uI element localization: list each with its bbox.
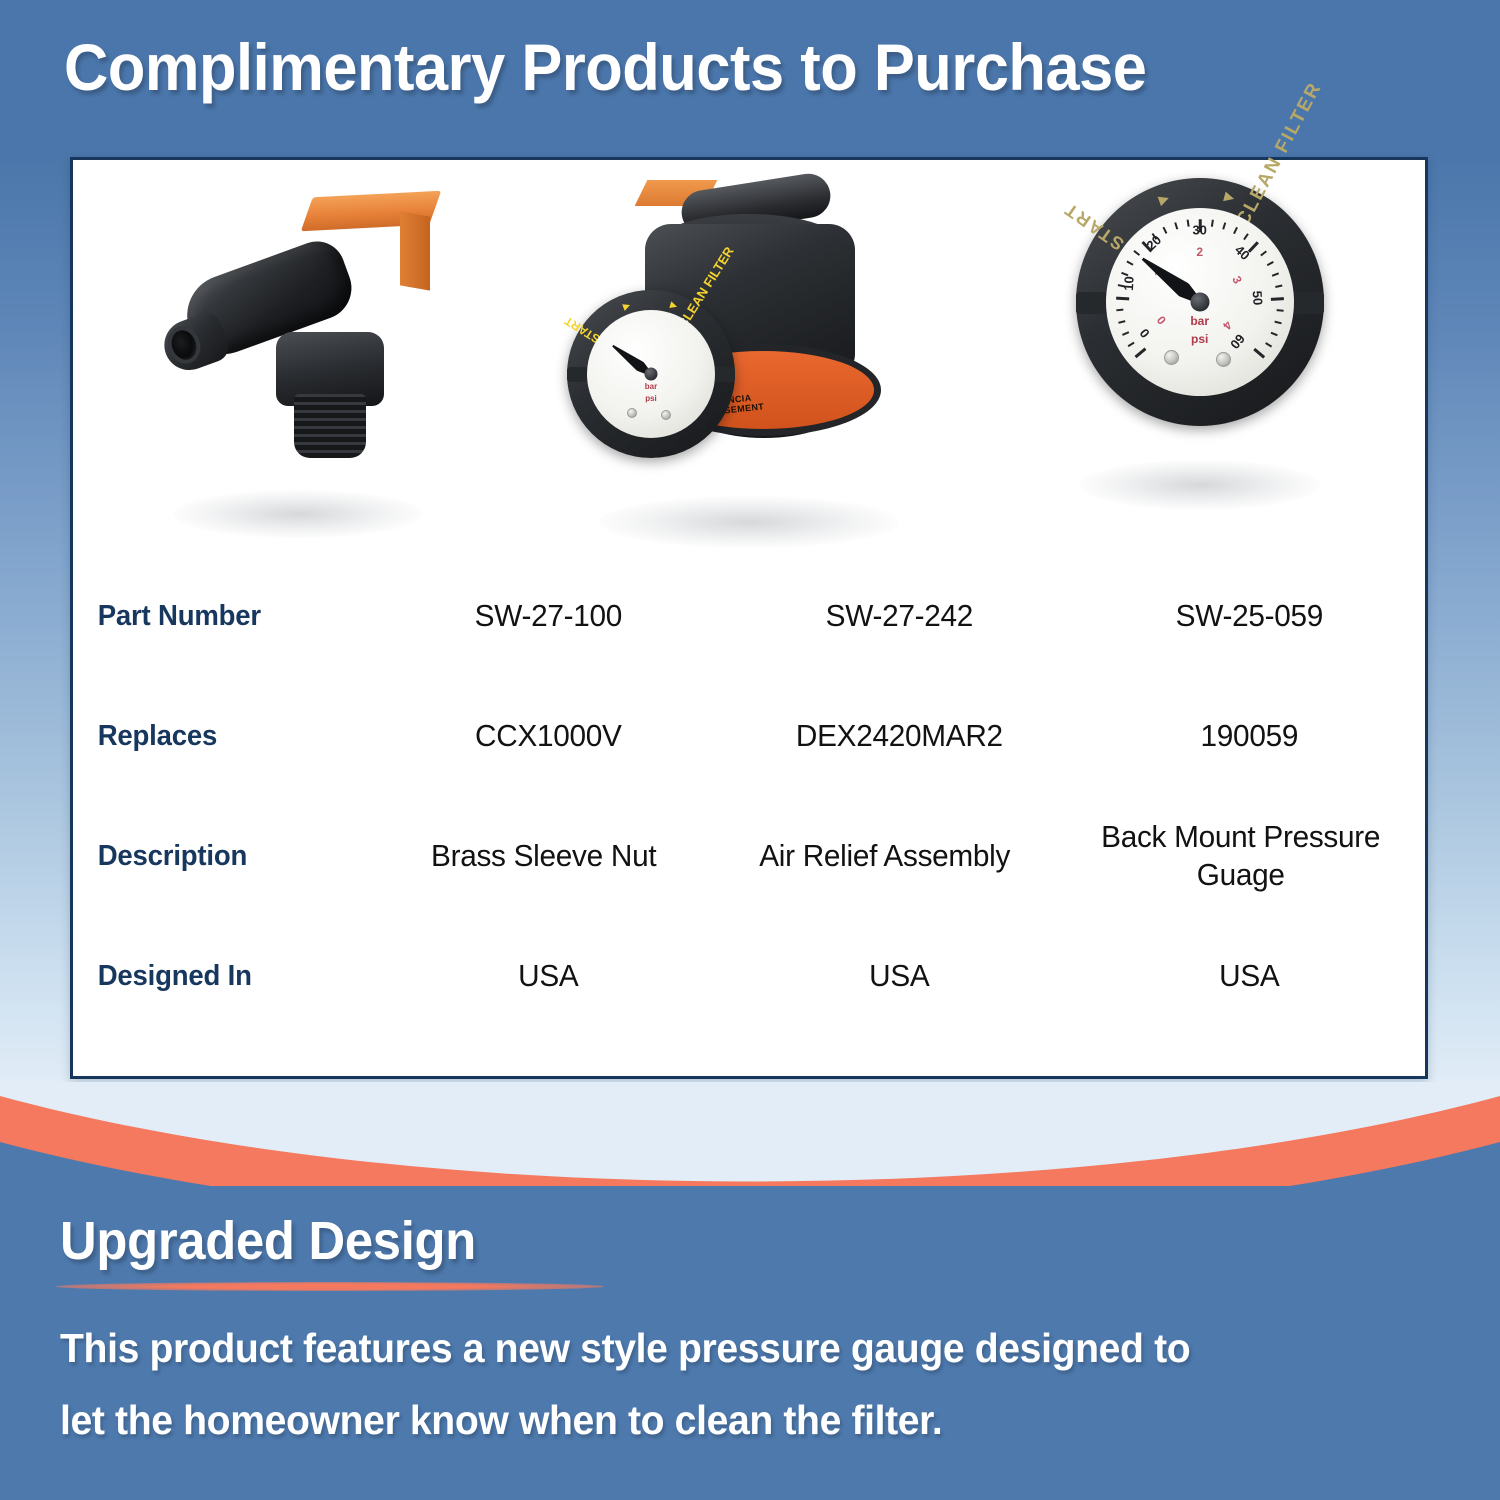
gauge-minor-tick: [1128, 342, 1135, 347]
gauge-face-screw-left: [1164, 350, 1179, 365]
table-row: Description Brass Sleeve Nut Air Relief …: [73, 796, 1425, 916]
gauge-unit-bar: bar: [1190, 314, 1209, 328]
gauge-psi-tick-label: 40: [1232, 242, 1253, 263]
gauge-minor-tick: [1265, 342, 1272, 347]
table-row: Part Number SW-27-100 SW-27-242 SW-25-05…: [73, 556, 1425, 676]
product-image-row: WARNING ADVERTENCIA AVERTISSEMENT START …: [73, 160, 1425, 560]
gauge-unit-psi: psi: [1191, 332, 1208, 346]
gauge-start-label: START: [1060, 198, 1128, 255]
gauge-minor-tick: [1133, 250, 1139, 255]
gauge-minor-tick: [1243, 233, 1248, 240]
product-comparison-card: WARNING ADVERTENCIA AVERTISSEMENT START …: [70, 157, 1428, 1079]
gauge-bar-tick-label: 3: [1229, 274, 1245, 286]
product-reflection: [1080, 460, 1320, 510]
gauge-minor-tick: [1274, 321, 1281, 324]
product-image-air-relief-assembly: WARNING ADVERTENCIA AVERTISSEMENT START …: [524, 160, 975, 560]
gauge-face: bar psi: [587, 310, 715, 438]
gauge-clean-triangle-icon: ▼: [665, 298, 682, 313]
table-row: Designed In USA USA USA: [73, 916, 1425, 1036]
product-reflection: [173, 490, 423, 538]
cell-description-3-line1: Back Mount Pressure Guage: [1101, 819, 1380, 892]
gauge-back-mount: START CLEAN FILTER ▼ ▼ 0102030405060 012…: [1076, 178, 1324, 426]
gauge-minor-tick: [1162, 227, 1166, 234]
row-label-description: Description: [73, 840, 358, 873]
product-reflection: [599, 496, 899, 548]
gauge-face: 0102030405060 01234 bar psi: [1106, 208, 1294, 396]
cell-replaces-2: DEX2420MAR2: [731, 717, 1068, 755]
cell-description-1: Brass Sleeve Nut: [380, 837, 708, 875]
gauge-face-screw-left: [627, 408, 637, 418]
gauge-unit-bar: bar: [645, 382, 657, 391]
valve-threaded-base-icon: [294, 394, 366, 458]
gauge-psi-tick-label: 10: [1121, 276, 1137, 291]
gauge-bar-tick-label: 2: [1196, 245, 1203, 259]
gauge-minor-tick: [1126, 261, 1133, 266]
gauge-air-relief: START CLEAN FILTER ▼ ▼ bar psi: [567, 290, 735, 458]
gauge-start-triangle-icon: ▼: [1151, 188, 1176, 211]
gauge-clean-triangle-icon: ▼: [1217, 187, 1241, 208]
gauge-minor-tick: [1271, 272, 1278, 276]
gauge-psi-tick-label: 0: [1136, 326, 1152, 341]
gauge-bar-tick-label: 0: [1154, 313, 1169, 327]
gauge-minor-tick: [1174, 222, 1178, 229]
gauge-minor-tick: [1222, 222, 1226, 229]
body-line-2: let the homeowner know when to clean the…: [60, 1384, 1397, 1456]
cell-description-3: Back Mount Pressure Guage Back Mount Pre…: [1063, 818, 1418, 894]
gauge-bar-tick-label: 4: [1220, 318, 1235, 332]
infographic-page: Complimentary Products to Purchase: [0, 0, 1500, 1500]
upgraded-design-body: This product features a new style pressu…: [60, 1312, 1397, 1456]
heading-underline: [56, 1282, 604, 1291]
cell-part-number-1: SW-27-100: [380, 597, 717, 635]
product-image-back-mount-pressure-gauge: START CLEAN FILTER ▼ ▼ 0102030405060 012…: [974, 160, 1425, 560]
gauge-minor-tick: [1270, 332, 1277, 336]
gauge-minor-tick: [1276, 309, 1283, 311]
cell-part-number-2: SW-27-242: [731, 597, 1068, 635]
cell-description-2: Air Relief Assembly: [721, 837, 1049, 875]
cell-part-number-3: SW-25-059: [1081, 597, 1418, 635]
gauge-unit-psi: psi: [645, 394, 657, 403]
cell-replaces-1: CCX1000V: [380, 717, 717, 755]
cell-designed-in-1: USA: [380, 957, 717, 995]
row-label-part-number: Part Number: [73, 600, 358, 633]
gauge-minor-tick: [1260, 250, 1266, 255]
gauge-minor-tick: [1233, 227, 1237, 234]
gauge-center-hub: [645, 368, 658, 381]
body-line-1: This product features a new style pressu…: [60, 1312, 1397, 1384]
gauge-psi-tick-label: 20: [1143, 232, 1164, 253]
gauge-minor-tick: [1122, 332, 1129, 336]
spec-table: Part Number SW-27-100 SW-27-242 SW-25-05…: [73, 556, 1425, 1036]
upgraded-design-heading: Upgraded Design: [60, 1210, 476, 1272]
row-label-replaces: Replaces: [73, 720, 358, 753]
valve-handle-stem-icon: [400, 211, 430, 290]
gauge-face-screw-right: [1216, 352, 1231, 367]
gauge-minor-tick: [1116, 309, 1123, 311]
gauge-minor-tick: [1211, 220, 1214, 227]
gauge-face-screw-right: [661, 410, 671, 420]
cell-replaces-3: 190059: [1081, 717, 1418, 755]
gauge-psi-tick-label: 50: [1249, 290, 1265, 305]
gauge-minor-tick: [1186, 220, 1189, 227]
gauge-psi-tick-label: 30: [1192, 223, 1206, 238]
table-row: Replaces CCX1000V DEX2420MAR2 190059: [73, 676, 1425, 796]
gauge-minor-tick: [1118, 321, 1125, 324]
cell-designed-in-3: USA: [1081, 957, 1418, 995]
gauge-minor-tick: [1266, 261, 1273, 266]
page-title: Complimentary Products to Purchase: [64, 28, 1366, 106]
gauge-minor-tick: [1275, 285, 1282, 288]
cell-designed-in-2: USA: [731, 957, 1068, 995]
row-label-designed-in: Designed In: [73, 960, 358, 993]
product-image-brass-sleeve-nut: [73, 160, 524, 560]
upgraded-design-section: Upgraded Design This product features a …: [0, 1186, 1500, 1500]
gauge-center-hub: [1190, 293, 1209, 312]
